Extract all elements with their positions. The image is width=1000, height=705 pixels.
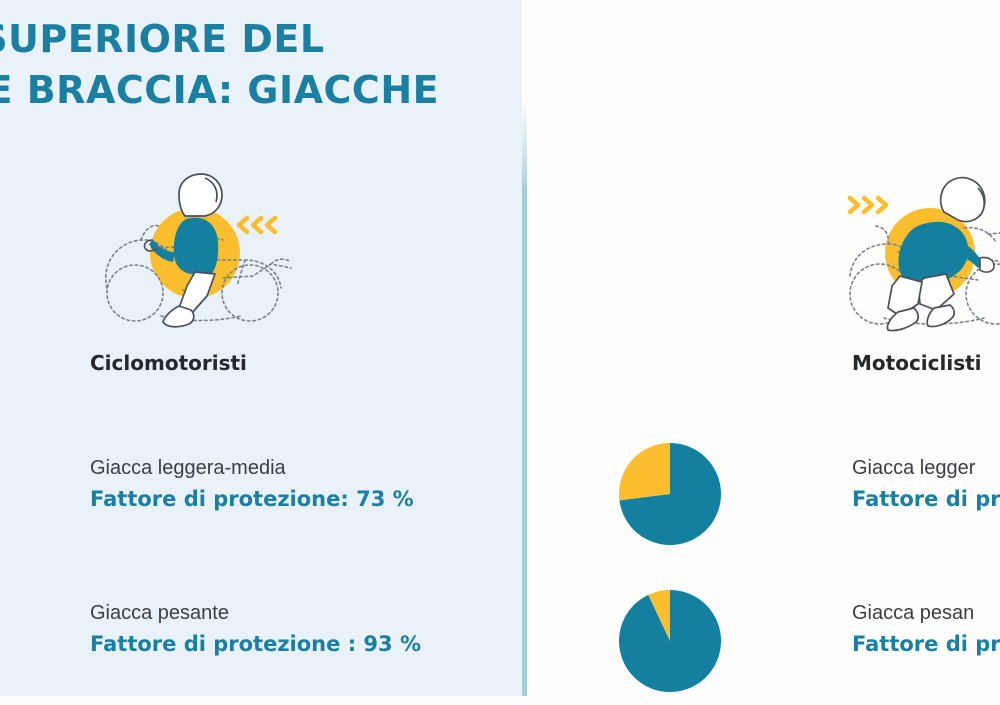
factor-value: 73 xyxy=(356,487,385,511)
item-motociclisti-giacca-leggera: Giacca legger Fattore di pr xyxy=(852,453,1000,515)
chevron-right-icon xyxy=(850,198,886,212)
item-name: Giacca legger xyxy=(852,453,1000,483)
item-name: Giacca pesante xyxy=(90,598,421,628)
item-name: Giacca pesan xyxy=(852,598,1000,628)
factor-label: Fattore di protezione: xyxy=(90,487,349,511)
factor-label: Fattore di pr xyxy=(852,487,1000,511)
chevron-left-icon xyxy=(239,218,275,232)
panel-label-motociclisti: Motociclisti xyxy=(852,351,982,375)
item-protection-factor: Fattore di protezione: 73 % xyxy=(90,483,414,515)
page-title-line-2: O E BRACCIA: GIACCHE xyxy=(0,65,530,116)
scooter-rider-facing-left-icon xyxy=(95,168,305,333)
item-motociclisti-giacca-pesante: Giacca pesan Fattore di pr xyxy=(852,598,1000,660)
pie-slices xyxy=(619,590,721,692)
panel-divider xyxy=(522,185,527,696)
page-title-line-1: E SUPERIORE DEL xyxy=(0,14,530,65)
item-name: Giacca leggera-media xyxy=(90,453,414,483)
pie-slice-1 xyxy=(619,443,670,500)
pie-chart-giacca-leggera-media xyxy=(619,443,721,545)
motorcycle-rider-facing-right-icon xyxy=(838,168,1000,333)
panel-label-ciclomotoristi: Ciclomotoristi xyxy=(90,351,247,375)
factor-value: 93 xyxy=(363,632,392,656)
item-protection-factor: Fattore di protezione : 93 % xyxy=(90,628,421,660)
factor-label: Fattore di pr xyxy=(852,632,1000,656)
page-title: E SUPERIORE DEL O E BRACCIA: GIACCHE xyxy=(0,14,530,116)
item-ciclomotoristi-giacca-pesante: Giacca pesante Fattore di protezione : 9… xyxy=(90,598,421,660)
title-band: E SUPERIORE DEL O E BRACCIA: GIACCHE xyxy=(0,0,530,140)
factor-unit: % xyxy=(400,632,421,656)
factor-unit: % xyxy=(393,487,414,511)
pie-slices xyxy=(619,443,721,545)
infographic-page: E SUPERIORE DEL O E BRACCIA: GIACCHE xyxy=(0,0,1000,705)
factor-label: Fattore di protezione : xyxy=(90,632,356,656)
item-protection-factor: Fattore di pr xyxy=(852,483,1000,515)
item-protection-factor: Fattore di pr xyxy=(852,628,1000,660)
item-ciclomotoristi-giacca-leggera: Giacca leggera-media Fattore di protezio… xyxy=(90,453,414,515)
pie-chart-giacca-pesante xyxy=(619,590,721,692)
